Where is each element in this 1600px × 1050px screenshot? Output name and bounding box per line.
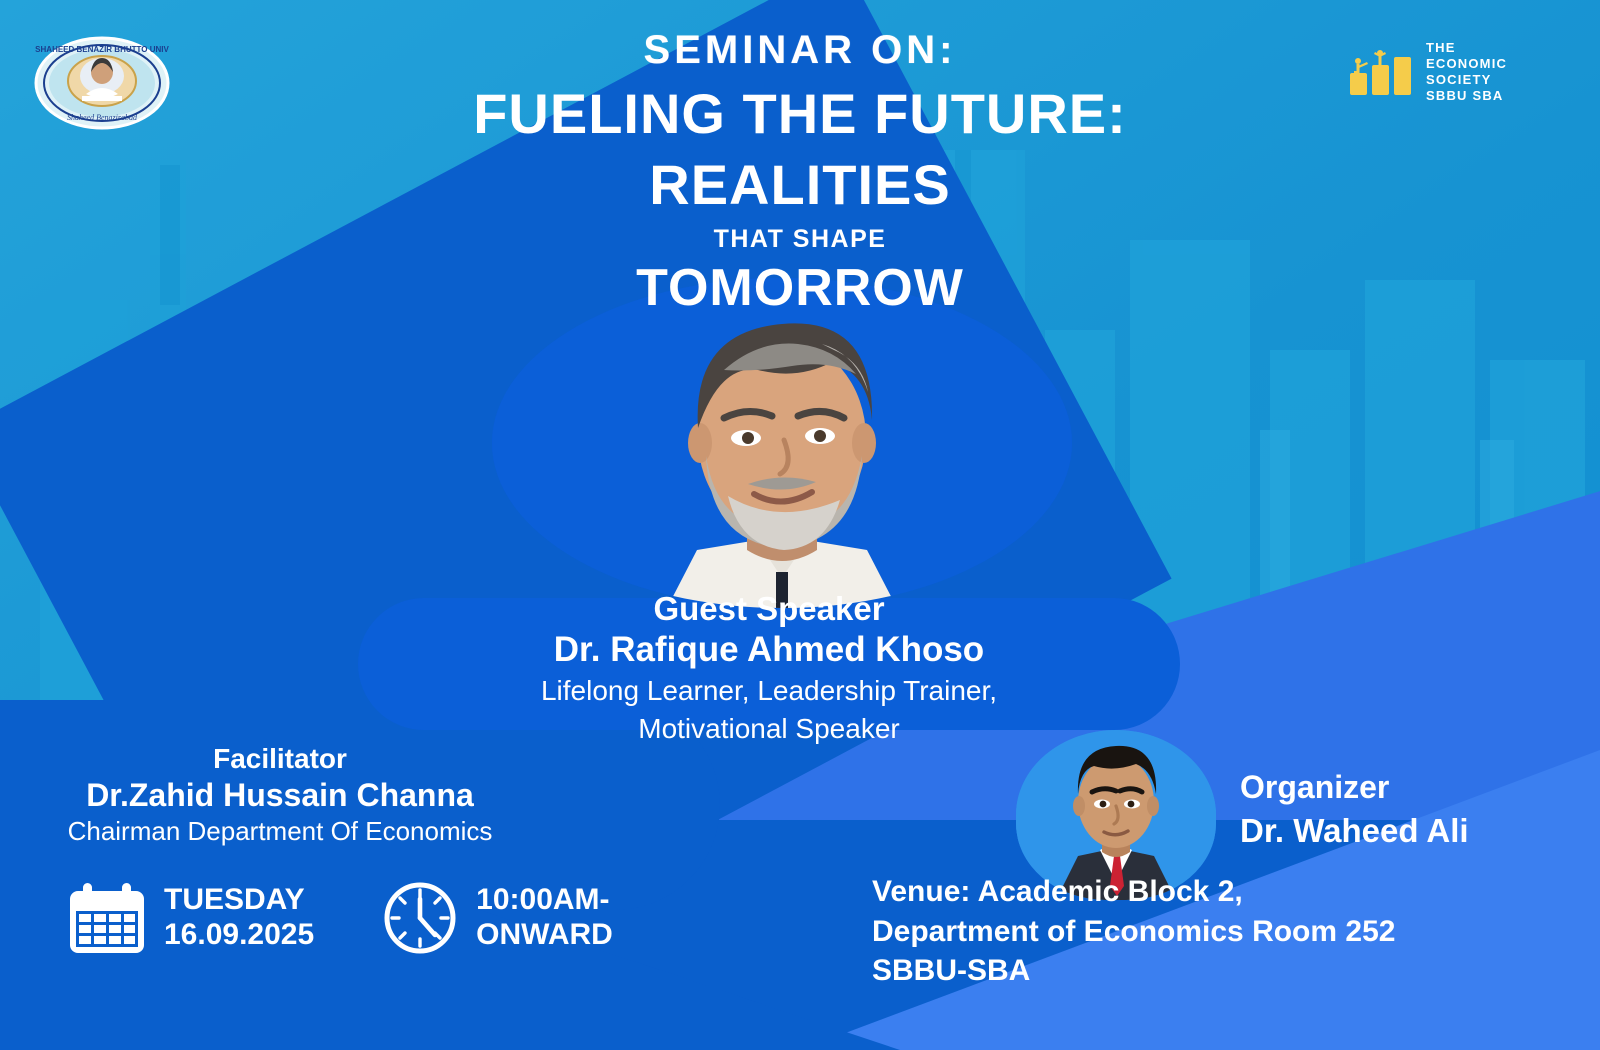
venue-block: Venue: Academic Block 2, Department of E… [872,872,1592,991]
guest-speaker-name: Dr. Rafique Ahmed Khoso [358,629,1180,670]
time-line-1: 10:00AM- [476,883,613,918]
guest-speaker-role: Guest Speaker [358,590,1180,629]
guest-speaker-tagline-1: Lifelong Learner, Leadership Trainer, [358,674,1180,708]
organizer-block: Organizer Dr. Waheed Ali [1240,766,1590,854]
venue-line-1: Venue: Academic Block 2, [872,872,1592,912]
clock-icon [380,878,460,958]
poster-title: SEMINAR ON: FUELING THE FUTURE: REALITIE… [0,28,1600,318]
venue-line-3: SBBU-SBA [872,951,1592,991]
content-layer: SHAHEED BENAZIR BHUTTO UNIV Shaheed Bena… [0,0,1600,1050]
title-line-1: FUELING THE FUTURE: [0,85,1600,144]
time-text: 10:00AM- ONWARD [476,883,613,953]
date-line-2: 16.09.2025 [164,918,314,953]
facilitator-name: Dr.Zahid Hussain Channa [20,776,540,814]
organizer-name: Dr. Waheed Ali [1240,809,1590,854]
time-line-2: ONWARD [476,918,613,953]
organizer-role: Organizer [1240,766,1590,809]
time-item: 10:00AM- ONWARD [380,878,613,958]
title-eyebrow: SEMINAR ON: [0,28,1600,73]
date-item: TUESDAY 16.09.2025 [66,879,314,957]
facilitator-designation: Chairman Department Of Economics [20,816,540,847]
date-line-1: TUESDAY [164,883,314,918]
title-line-4: TOMORROW [0,258,1600,318]
schedule-block: TUESDAY 16.09.2025 [66,878,613,958]
venue-line-2: Department of Economics Room 252 [872,912,1592,952]
guest-speaker-block: Guest Speaker Dr. Rafique Ahmed Khoso Li… [358,590,1180,747]
facilitator-block: Facilitator Dr.Zahid Hussain Channa Chai… [20,742,540,847]
title-line-3: THAT SHAPE [0,225,1600,254]
date-text: TUESDAY 16.09.2025 [164,883,314,953]
title-line-2: REALITIES [0,156,1600,215]
seminar-poster: SHAHEED BENAZIR BHUTTO UNIV Shaheed Bena… [0,0,1600,1050]
calendar-icon [66,879,148,957]
facilitator-role: Facilitator [20,742,540,776]
